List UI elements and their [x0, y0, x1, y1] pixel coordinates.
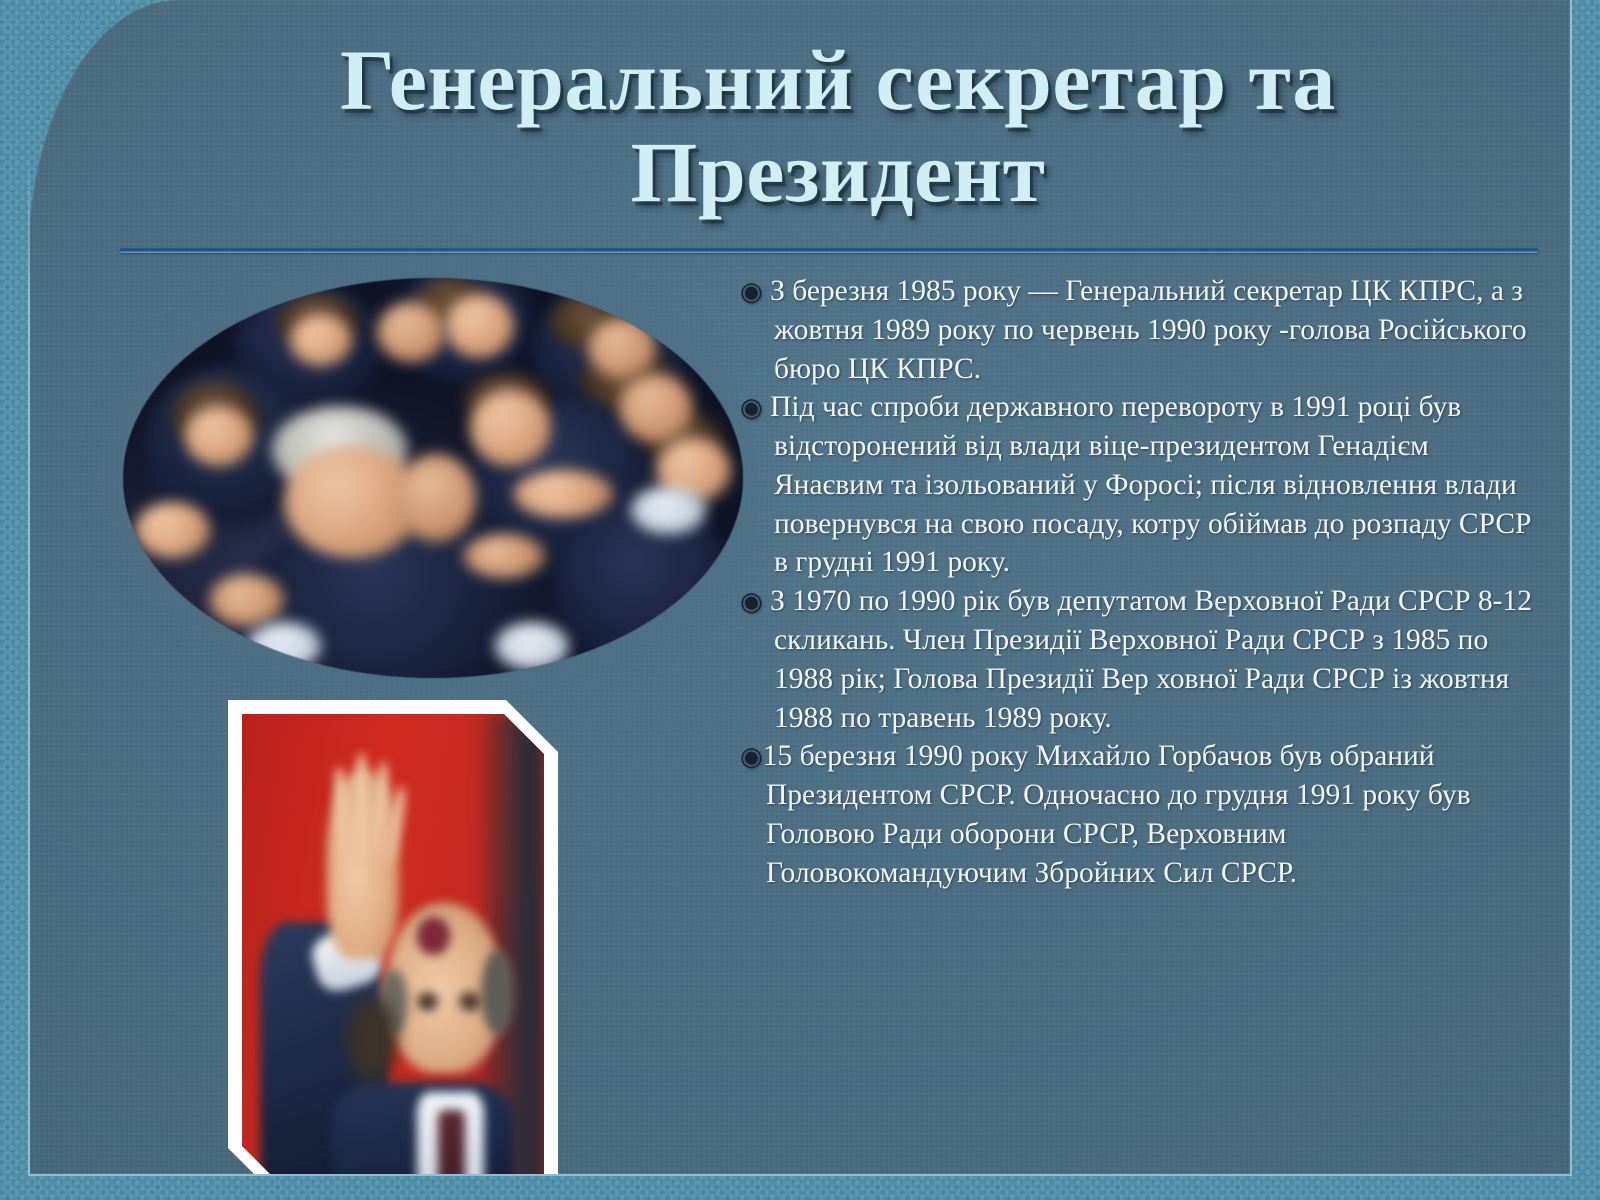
gorbachev-waving-photo [228, 700, 558, 1176]
bullet-glyph-icon: ◉ [740, 393, 763, 422]
bullet-glyph-icon: ◉ [740, 587, 763, 616]
photo-inner [242, 714, 544, 1176]
slide-content-panel: Генеральний секретар та Президент ◉ З бе… [28, 0, 1572, 1176]
bullet-item-1: ◉ З березня 1985 року — Генеральний секр… [740, 272, 1540, 388]
bullet-glyph-icon: ◉ [740, 277, 763, 306]
page-title: Генеральний секретар та Президент [148, 34, 1528, 218]
bullet-text-1: З березня 1985 року — Генеральний секрет… [770, 275, 1527, 385]
title-divider [120, 248, 1538, 253]
bullet-spacer-3 [763, 585, 770, 617]
bullet-text-4: 15 березня 1990 року Михайло Горбачов бу… [763, 740, 1471, 888]
content-text-block: ◉ З березня 1985 року — Генеральний секр… [740, 272, 1540, 893]
bullet-item-3: ◉ З 1970 по 1990 рік був депутатом Верхо… [740, 582, 1540, 737]
panel-left-edge [28, 0, 30, 1174]
photo-shapes [123, 278, 743, 678]
bullet-text-2: Під час спроби державного перевороту в 1… [770, 391, 1531, 578]
bullet-text-3: З 1970 по 1990 рік був депутатом Верховн… [770, 585, 1532, 733]
bullet-spacer-2 [763, 391, 770, 423]
bullet-item-4: ◉15 березня 1990 року Михайло Горбачов б… [740, 737, 1540, 892]
bullet-spacer-1 [763, 275, 770, 307]
slide-canvas: Генеральний секретар та Президент ◉ З бе… [0, 0, 1600, 1200]
bullet-glyph-icon: ◉ [740, 742, 763, 771]
bullet-item-2: ◉ Під час спроби державного перевороту в… [740, 388, 1540, 582]
gorbachev-in-crowd-photo [123, 278, 743, 678]
